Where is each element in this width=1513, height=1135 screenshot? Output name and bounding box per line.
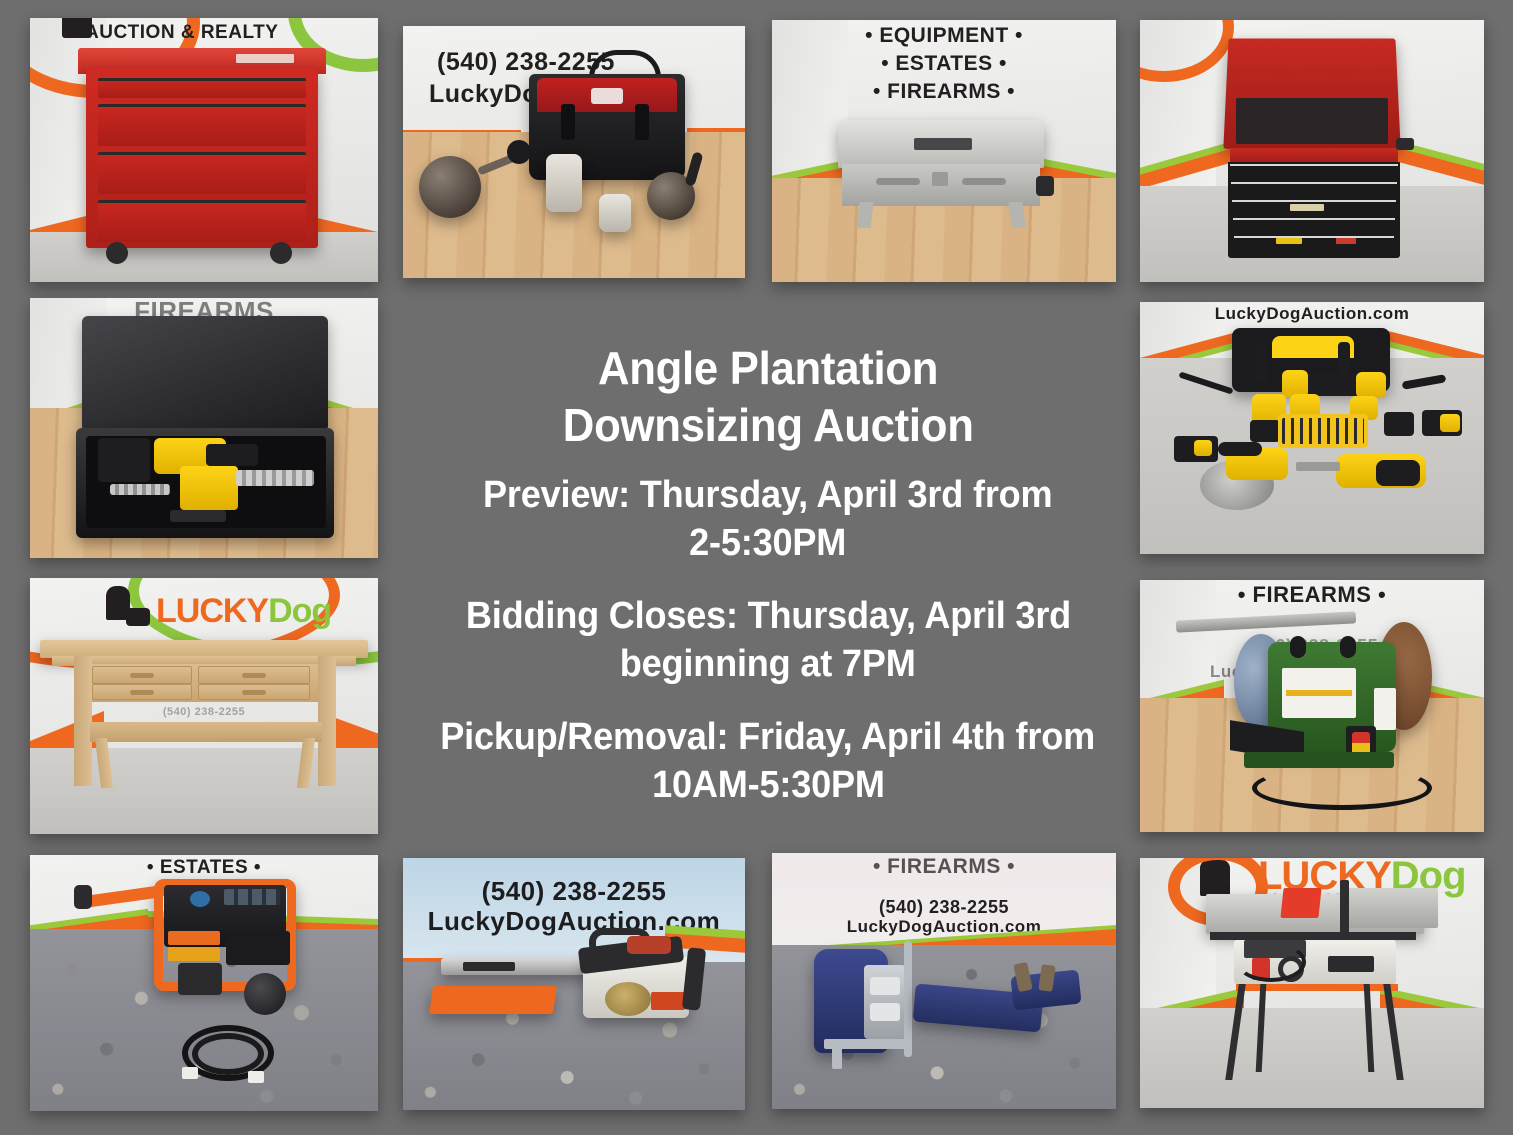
reel-spool-large: [546, 154, 582, 212]
photo-tile-chainsaw: (540) 238-2255 LuckyDogAuction.com: [403, 858, 745, 1110]
bidding-line2: beginning at 7PM: [620, 641, 916, 689]
backdrop-tagline: AUCTION & REALTY: [85, 22, 278, 44]
pickup-line1: Pickup/Removal: Friday, April 4th from: [441, 714, 1096, 762]
backdrop-phone-4: (540) 238-2255: [772, 897, 1116, 918]
backdrop-firearms: • FIREARMS •: [772, 80, 1116, 104]
saw-extension-wing: [1346, 888, 1438, 928]
stihl-bar-logo: [463, 962, 515, 971]
generac-model-badge: [168, 947, 220, 961]
power-switch: [1352, 732, 1370, 754]
drill-bit: [236, 470, 314, 486]
photo-tile-dewalt-combo: LuckyDogAuction.com: [1140, 302, 1484, 554]
photo-tile-tool-cabinet: AUCTION & REALTY: [30, 18, 378, 282]
toolbox-contents: [1236, 98, 1388, 144]
photo-tile-workbench: LUCKY Dog (540) 238-2255: [30, 578, 378, 834]
bidding-line1: Bidding Closes: Thursday, April 3rd: [465, 593, 1070, 641]
backdrop-phone: (540) 238-2255: [437, 48, 615, 77]
generac-badge: [168, 931, 220, 945]
auction-announcement: Angle Plantation Downsizing Auction Prev…: [388, 340, 1148, 810]
backdrop-firearms-3: • FIREARMS •: [772, 855, 1116, 879]
auction-title-line1: Angle Plantation: [598, 340, 938, 397]
grill-brand-badge: [914, 138, 972, 150]
workbench-shelf: [90, 722, 322, 742]
backdrop-website: LuckyDogAuction.com: [1140, 304, 1484, 324]
fuel-cap: [190, 891, 210, 907]
photo-tile-tabletop-grill: • EQUIPMENT • • ESTATES • • FIREARMS • (…: [772, 20, 1116, 282]
pickup-line2: 10AM-5:30PM: [652, 762, 885, 810]
conventional-reel: [419, 156, 481, 218]
rip-fence: [1340, 880, 1349, 936]
photo-tile-fishing-reels: (540) 238-2255 LuckyDogAu: [403, 26, 745, 278]
backdrop-estates-2: • ESTATES •: [30, 857, 378, 879]
photo-tile-outboard-motor: • FIREARMS • (540) 238-2255 LuckyDogAuct…: [772, 853, 1116, 1109]
chisel-bit: [110, 484, 170, 495]
craftsman-badge: [236, 54, 294, 63]
photo-tile-open-toolbox: [1140, 20, 1484, 282]
logo-lucky-text: LUCKY: [156, 592, 268, 631]
husky-logo: [591, 88, 623, 104]
backdrop-phone-3: (540) 238-2255: [403, 876, 745, 907]
photo-tile-bench-grinder: • FIREARMS • (540) 238-2255 LuckyDogAu: [1140, 580, 1484, 832]
photo-tile-table-saw: LUCKY Dog AUCTION & REALTY: [1140, 858, 1484, 1108]
starter-pulley: [605, 982, 651, 1016]
photo-tile-hammer-drill: FIREARMS: [30, 298, 378, 558]
porter-cable-badge: [1328, 956, 1374, 972]
logo-dog-text: Dog: [268, 592, 331, 631]
blade-guard: [1280, 888, 1321, 918]
auction-title-line2: Downsizing Auction: [563, 397, 974, 454]
bar-scabbard: [429, 986, 557, 1014]
photo-tile-generator: • ESTATES •: [30, 855, 378, 1111]
power-cord: [1252, 766, 1432, 810]
reel-spool-small: [599, 194, 631, 232]
preview-line2: 2-5:30PM: [690, 520, 847, 568]
backdrop-firearms-2: • FIREARMS •: [1140, 582, 1484, 608]
preview-line1: Preview: Thursday, April 3rd from: [483, 472, 1052, 520]
photo-collage: AUCTION & REALTY (540) 238-2255 LuckyDog…: [0, 0, 1513, 1135]
backdrop-equipment: • EQUIPMENT •: [772, 24, 1116, 48]
backdrop-estates: • ESTATES •: [772, 52, 1116, 76]
